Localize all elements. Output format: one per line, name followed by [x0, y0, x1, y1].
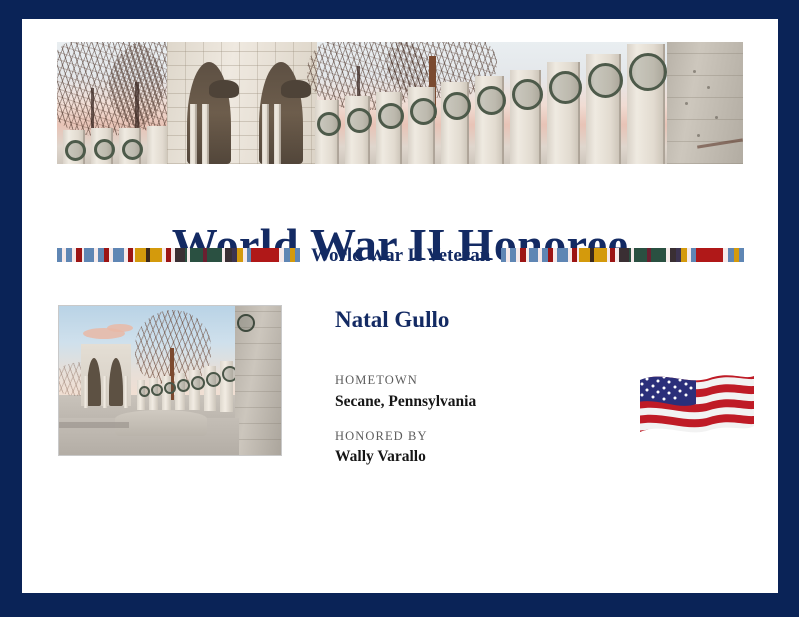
- hero-wreath-r2: [347, 108, 372, 133]
- hero-eagle-right: [281, 80, 311, 98]
- hero-wall-star-5: [697, 134, 700, 137]
- ribbon-stripe: [150, 248, 162, 262]
- hero-wreath-l3: [122, 139, 143, 160]
- photo-wreath-4: [177, 379, 190, 392]
- ribbon-subtitle-row: World War II Veteran: [57, 241, 743, 269]
- us-flag-icon: [634, 368, 760, 448]
- photo-wreath-2: [151, 384, 163, 396]
- hero-wreath-r4: [410, 98, 437, 125]
- ribbon-stripe: [84, 248, 94, 262]
- photo-wreath-5: [191, 376, 205, 390]
- honoree-info: Natal Gullo HOMETOWN Secane, Pennsylvani…: [335, 307, 625, 484]
- ribbon-stripe: [251, 248, 278, 262]
- ribbon-stripe: [113, 248, 124, 262]
- photo-pav-col-3: [124, 376, 128, 408]
- photo-wreath-3: [164, 382, 176, 394]
- hero-col-2: [202, 104, 209, 164]
- ribbon-stripe: [529, 248, 539, 262]
- hometown-label: HOMETOWN: [335, 372, 625, 388]
- hero-banner-image: [57, 42, 743, 164]
- ribbon-stripe: [619, 248, 629, 262]
- photo-pav-col-1: [84, 376, 88, 408]
- hero-wall-star-4: [715, 116, 718, 119]
- hero-wreath-r9: [588, 63, 623, 98]
- photo-wreath-1: [139, 386, 150, 397]
- hero-wreath-r8: [549, 71, 582, 104]
- ribbon-stripe: [190, 248, 204, 262]
- hero-wreath-r1: [317, 112, 341, 136]
- memorial-photo-scene: [59, 306, 281, 455]
- ribbon-stripe: [557, 248, 568, 262]
- honoree-body: Natal Gullo HOMETOWN Secane, Pennsylvani…: [22, 281, 778, 511]
- photo-wreath-6: [206, 372, 221, 387]
- ribbon-stripe: [175, 248, 185, 262]
- hero-wall-star-2: [707, 86, 710, 89]
- field-honored-by: HONORED BY Wally Varallo: [335, 428, 625, 467]
- ribbon-stripe: [207, 248, 222, 262]
- hero-wreath-r7: [512, 79, 543, 110]
- photo-pav-col-2: [103, 376, 107, 408]
- hero-eagle-left: [209, 80, 239, 98]
- page-border: World War II Honoree World War II Vetera…: [0, 0, 799, 617]
- honoree-card: World War II Honoree World War II Vetera…: [22, 19, 778, 593]
- memorial-photo: [58, 305, 282, 456]
- hero-wreath-l1: [65, 140, 86, 161]
- us-flag-svg: [634, 368, 760, 448]
- service-ribbon-left: [57, 248, 300, 262]
- honored-by-value: Wally Varallo: [335, 447, 625, 466]
- ribbon-stripe: [634, 248, 648, 262]
- ribbon-stripe: [135, 248, 146, 262]
- hero-wreath-r10: [629, 53, 667, 91]
- hero-wreath-r6: [477, 86, 506, 115]
- honoree-name: Natal Gullo: [335, 307, 625, 332]
- ribbon-stripe: [739, 248, 744, 262]
- hero-col-1: [190, 104, 197, 164]
- hero-pillar-l4: [147, 126, 169, 164]
- hero-wreath-l2: [94, 139, 115, 160]
- page-subtitle: World War II Veteran: [300, 246, 501, 265]
- service-ribbon-right: [501, 248, 744, 262]
- hero-wreath-r3: [378, 103, 404, 129]
- hero-wreath-r5: [443, 92, 471, 120]
- photo-wall-wreath: [237, 314, 255, 332]
- photo-cloud-2: [107, 324, 133, 332]
- ribbon-stripe: [696, 248, 723, 262]
- hero-scene: [57, 42, 743, 164]
- honored-by-label: HONORED BY: [335, 428, 625, 444]
- hero-wall-star-3: [685, 102, 688, 105]
- ribbon-stripe: [579, 248, 590, 262]
- hero-wall-star-1: [693, 70, 696, 73]
- ribbon-stripe: [594, 248, 606, 262]
- field-hometown: HOMETOWN Secane, Pennsylvania: [335, 372, 625, 411]
- flag-body: [634, 368, 760, 448]
- hero-col-3: [262, 104, 269, 164]
- hometown-value: Secane, Pennsylvania: [335, 392, 625, 411]
- ribbon-stripe: [651, 248, 666, 262]
- photo-curb: [59, 422, 129, 428]
- hero-col-4: [274, 104, 281, 164]
